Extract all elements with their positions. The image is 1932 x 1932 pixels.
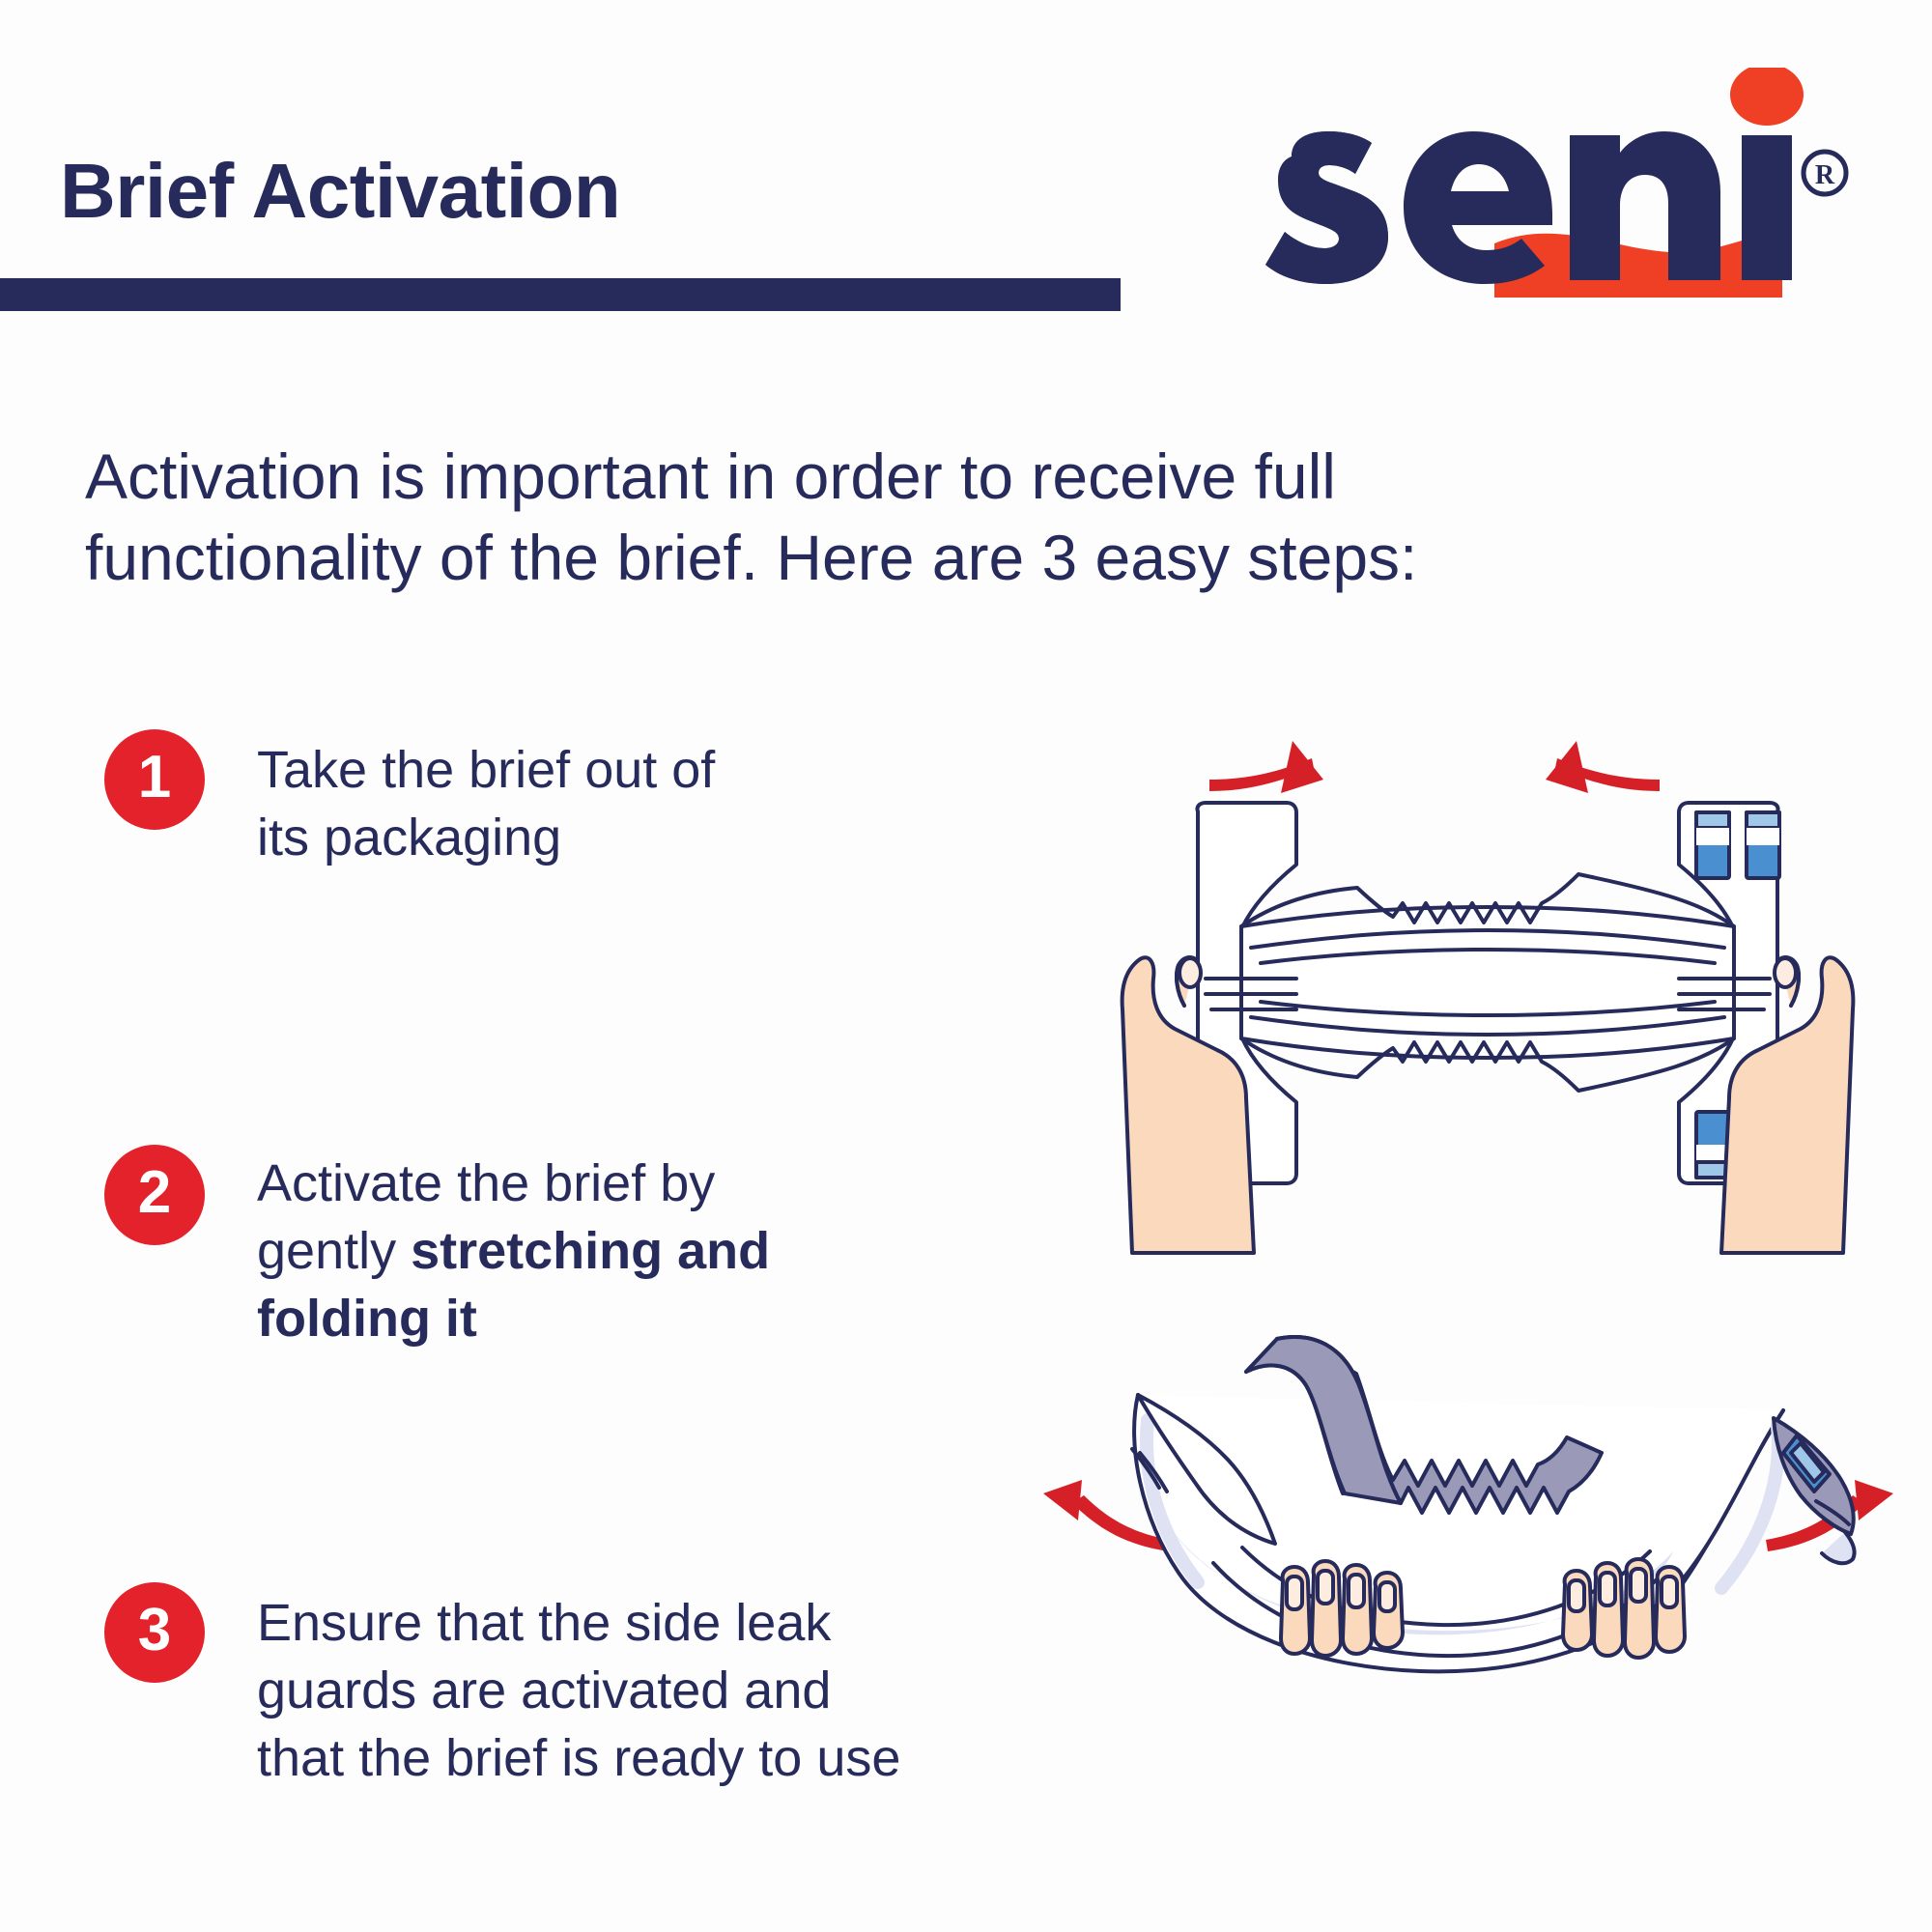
svg-text:R: R: [1815, 160, 1835, 190]
brief-fold-illustration: [1024, 1304, 1913, 1787]
title-underline-bar: [0, 278, 1121, 311]
intro-line-2: functionality of the brief. Here are 3 e…: [85, 518, 1824, 599]
step-1-number-badge: 1: [104, 729, 205, 830]
registered-trademark-icon: R: [1799, 147, 1851, 199]
intro-paragraph: Activation is important in order to rece…: [85, 437, 1824, 599]
step-2-text: Activate the brief bygently stretching a…: [257, 1150, 952, 1353]
brief-stretch-illustration: [1082, 720, 1893, 1261]
page-title: Brief Activation: [60, 153, 620, 230]
arrow-right-icon: [1546, 741, 1660, 793]
seni-logo: [1183, 68, 1840, 299]
intro-line-1: Activation is important in order to rece…: [85, 437, 1824, 518]
step-1-text: Take the brief out ofits packaging: [257, 736, 933, 871]
step-3-text: Ensure that the side leakguards are acti…: [257, 1589, 1030, 1793]
arrow-left-icon: [1209, 741, 1323, 793]
step-2-number-badge: 2: [104, 1145, 205, 1245]
step-3-number-badge: 3: [104, 1582, 205, 1683]
infographic-page: Brief Activation R Activation is importa…: [0, 0, 1932, 1932]
tape-tab-top-b: [1747, 812, 1779, 878]
tape-tab-top-a: [1696, 812, 1729, 878]
